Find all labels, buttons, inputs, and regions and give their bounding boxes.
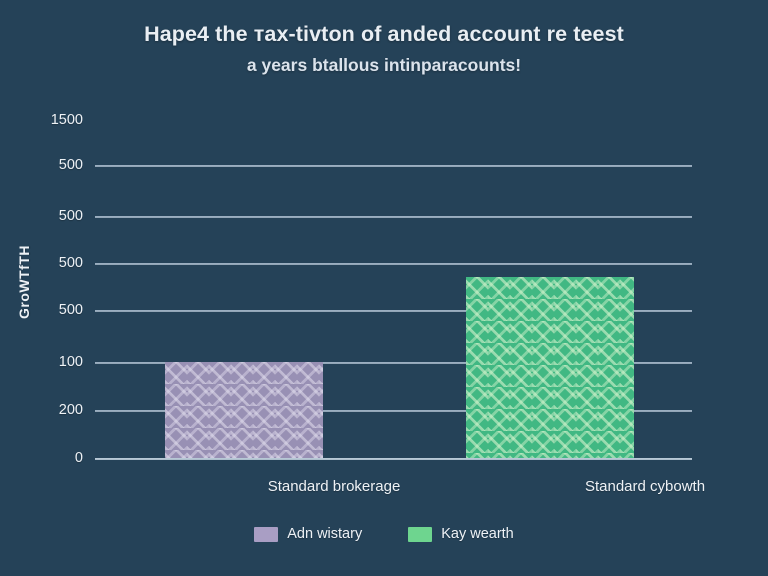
y-axis-tick-label: 500: [59, 208, 83, 224]
chart-subtitle: a years btallous intinparacounts!: [0, 55, 768, 76]
legend-label: Adn wistary: [287, 526, 362, 542]
gridline: [95, 165, 692, 167]
axis-baseline: [95, 458, 692, 460]
y-axis-tick-label: 100: [59, 354, 83, 370]
y-axis-tick-label: 500: [59, 157, 83, 173]
plot-area: 15005005005005001002000: [95, 110, 692, 460]
legend-swatch-icon: [408, 527, 432, 542]
bar-standard-brokerage[interactable]: [165, 362, 323, 458]
legend-item[interactable]: Kay wearth: [408, 526, 514, 542]
legend-swatch-icon: [254, 527, 278, 542]
y-axis-tick-label: 200: [59, 402, 83, 418]
chart-title: Hape4 the тax-tivton of anded account re…: [0, 22, 768, 48]
y-axis-title: GroWTfTH: [16, 245, 36, 319]
y-axis-tick-label: 0: [75, 450, 83, 466]
legend-item[interactable]: Adn wistary: [254, 526, 362, 542]
gridline: [95, 263, 692, 265]
y-axis-tick-label: 500: [59, 302, 83, 318]
y-axis-tick-label: 500: [59, 255, 83, 271]
bar-standard-cybowth[interactable]: [466, 277, 634, 458]
legend-label: Kay wearth: [441, 526, 514, 542]
x-axis-tick-label: Standard cybowth: [585, 478, 705, 495]
x-axis-tick-label: Standard brokerage: [268, 478, 401, 495]
y-axis-tick-label: 1500: [51, 112, 83, 128]
title-block: Hape4 the тax-tivton of anded account re…: [0, 22, 768, 76]
chart-root: Hape4 the тax-tivton of anded account re…: [0, 0, 768, 576]
chart-legend: Adn wistaryKay wearth: [0, 526, 768, 542]
gridline: [95, 216, 692, 218]
